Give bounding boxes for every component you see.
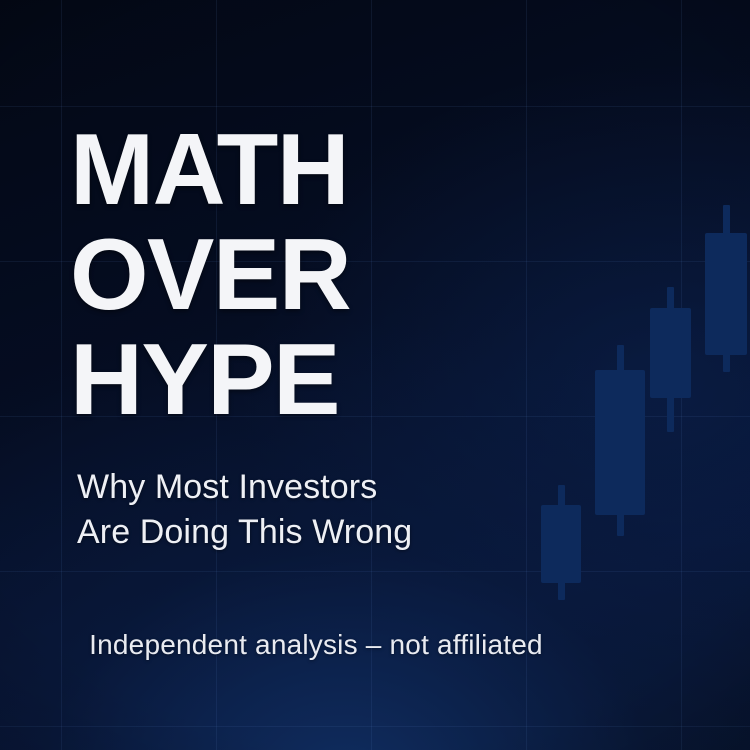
headline-line-1: MATH [70, 118, 350, 223]
headline-line-3: HYPE [70, 328, 350, 433]
headline-line-2: OVER [70, 223, 350, 328]
disclaimer-text: Independent analysis – not affiliated [0, 629, 750, 661]
page-subtitle: Why Most Investors Are Doing This Wrong [77, 465, 412, 555]
subtitle-line-1: Why Most Investors [77, 465, 412, 510]
poster-canvas: MATH OVER HYPE Why Most Investors Are Do… [0, 0, 750, 750]
page-title: MATH OVER HYPE [70, 118, 350, 433]
subtitle-line-2: Are Doing This Wrong [77, 510, 412, 555]
